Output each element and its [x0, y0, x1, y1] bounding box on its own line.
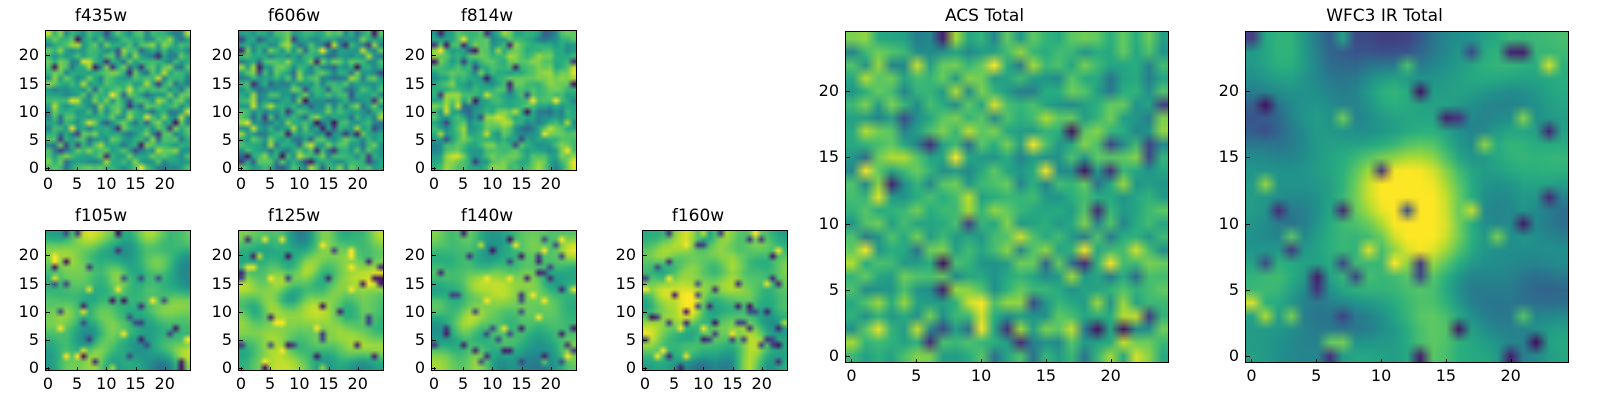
- y-tick-mark: [846, 290, 850, 291]
- y-tick-label: 15: [807, 149, 839, 165]
- y-tick-mark: [432, 284, 436, 285]
- x-tick-label: 20: [541, 176, 561, 192]
- x-tick-mark: [1381, 359, 1382, 363]
- x-tick-mark: [136, 167, 137, 171]
- x-tick-label: 5: [72, 376, 82, 392]
- y-tick-mark: [46, 255, 50, 256]
- y-tick-label: 15: [393, 76, 425, 92]
- panel-f140w: f140w 0510152005101520: [386, 200, 588, 400]
- y-tick-mark: [643, 368, 647, 369]
- x-tick-mark: [270, 167, 271, 171]
- x-tick-mark: [463, 167, 464, 171]
- y-tick-mark: [1246, 290, 1250, 291]
- y-tick-label: 0: [200, 160, 232, 176]
- plot-area-f125w[interactable]: [238, 230, 384, 371]
- y-tick-mark: [46, 284, 50, 285]
- x-tick-mark: [77, 367, 78, 371]
- y-tick-mark: [46, 368, 50, 369]
- y-tick-label: 0: [7, 160, 39, 176]
- x-tick-mark: [1046, 359, 1047, 363]
- x-tick-label: 0: [429, 176, 439, 192]
- heatmap-f105w: [46, 231, 190, 370]
- x-tick-mark: [299, 167, 300, 171]
- x-tick-mark: [674, 367, 675, 371]
- y-tick-mark: [846, 91, 850, 92]
- panel-title-f814w: f814w: [386, 8, 588, 25]
- x-tick-mark: [492, 367, 493, 371]
- x-tick-mark: [1446, 359, 1447, 363]
- x-tick-label: 20: [155, 376, 175, 392]
- x-tick-mark: [522, 367, 523, 371]
- y-tick-label: 10: [200, 304, 232, 320]
- x-tick-mark: [329, 167, 330, 171]
- y-tick-label: 5: [393, 332, 425, 348]
- x-tick-label: 0: [1246, 368, 1256, 384]
- plot-area-f160w[interactable]: [642, 230, 788, 371]
- x-tick-label: 10: [96, 176, 116, 192]
- y-tick-mark: [846, 157, 850, 158]
- x-tick-mark: [77, 167, 78, 171]
- x-tick-mark: [136, 367, 137, 371]
- y-tick-label: 15: [200, 276, 232, 292]
- y-tick-mark: [46, 112, 50, 113]
- y-tick-mark: [239, 140, 243, 141]
- x-tick-mark: [733, 367, 734, 371]
- y-tick-label: 5: [393, 132, 425, 148]
- x-tick-label: 5: [1311, 368, 1321, 384]
- x-tick-label: 20: [1500, 368, 1520, 384]
- y-tick-label: 0: [807, 348, 839, 364]
- y-tick-mark: [432, 255, 436, 256]
- x-tick-label: 0: [640, 376, 650, 392]
- x-tick-label: 10: [289, 176, 309, 192]
- panel-title-f160w: f160w: [597, 208, 799, 225]
- y-tick-mark: [643, 340, 647, 341]
- panel-f105w: f105w 0510152005101520: [0, 200, 202, 400]
- panel-acs-total: ACS Total 0510152005101520: [800, 0, 1180, 400]
- y-tick-label: 20: [7, 247, 39, 263]
- y-tick-mark: [46, 140, 50, 141]
- x-tick-label: 15: [1436, 368, 1456, 384]
- x-tick-label: 5: [669, 376, 679, 392]
- y-tick-label: 10: [807, 216, 839, 232]
- y-tick-mark: [239, 255, 243, 256]
- plot-area-f606w[interactable]: [238, 30, 384, 171]
- x-tick-mark: [1251, 359, 1252, 363]
- y-tick-mark: [1246, 224, 1250, 225]
- y-tick-label: 10: [200, 104, 232, 120]
- plot-area-acs-total[interactable]: [845, 31, 1169, 363]
- y-tick-mark: [643, 312, 647, 313]
- panel-title-f606w: f606w: [193, 8, 395, 25]
- x-tick-label: 5: [265, 376, 275, 392]
- x-tick-label: 10: [482, 176, 502, 192]
- y-tick-mark: [239, 284, 243, 285]
- x-tick-label: 5: [458, 176, 468, 192]
- y-tick-mark: [239, 112, 243, 113]
- y-tick-mark: [846, 224, 850, 225]
- y-tick-label: 5: [604, 332, 636, 348]
- x-tick-mark: [492, 167, 493, 171]
- y-tick-mark: [432, 340, 436, 341]
- heatmap-wfc3-ir-total: [1246, 32, 1568, 362]
- x-tick-mark: [358, 167, 359, 171]
- x-tick-mark: [270, 367, 271, 371]
- y-tick-label: 20: [200, 47, 232, 63]
- y-tick-label: 10: [7, 104, 39, 120]
- y-tick-mark: [432, 168, 436, 169]
- x-tick-label: 0: [236, 176, 246, 192]
- y-tick-label: 0: [1207, 348, 1239, 364]
- panel-title-f105w: f105w: [0, 208, 202, 225]
- x-tick-mark: [165, 167, 166, 171]
- y-tick-label: 15: [604, 276, 636, 292]
- y-tick-mark: [1246, 91, 1250, 92]
- y-tick-label: 20: [807, 83, 839, 99]
- y-tick-mark: [239, 340, 243, 341]
- y-tick-mark: [643, 255, 647, 256]
- y-tick-mark: [432, 140, 436, 141]
- x-tick-label: 10: [96, 376, 116, 392]
- y-tick-label: 15: [1207, 149, 1239, 165]
- y-tick-label: 20: [604, 247, 636, 263]
- y-tick-mark: [46, 340, 50, 341]
- heatmap-f606w: [239, 31, 383, 170]
- heatmap-f814w: [432, 31, 576, 170]
- x-tick-label: 10: [289, 376, 309, 392]
- y-tick-mark: [432, 112, 436, 113]
- x-tick-label: 20: [348, 376, 368, 392]
- x-tick-mark: [916, 359, 917, 363]
- x-tick-label: 10: [971, 368, 991, 384]
- y-tick-label: 15: [393, 276, 425, 292]
- x-tick-label: 15: [1036, 368, 1056, 384]
- y-tick-mark: [46, 168, 50, 169]
- y-tick-label: 10: [393, 104, 425, 120]
- panel-title-f435w: f435w: [0, 8, 202, 25]
- x-tick-label: 5: [458, 376, 468, 392]
- x-tick-mark: [358, 367, 359, 371]
- y-tick-label: 20: [1207, 83, 1239, 99]
- y-tick-label: 0: [393, 360, 425, 376]
- panel-wfc3-ir-total: WFC3 IR Total 0510152005101520: [1200, 0, 1600, 400]
- x-tick-label: 20: [348, 176, 368, 192]
- x-tick-mark: [1316, 359, 1317, 363]
- x-tick-mark: [981, 359, 982, 363]
- y-tick-mark: [239, 55, 243, 56]
- panel-title-f140w: f140w: [386, 208, 588, 225]
- y-tick-mark: [239, 368, 243, 369]
- x-tick-mark: [299, 367, 300, 371]
- y-tick-mark: [643, 284, 647, 285]
- y-tick-label: 5: [200, 132, 232, 148]
- y-tick-label: 20: [393, 247, 425, 263]
- x-tick-mark: [1111, 359, 1112, 363]
- y-tick-label: 15: [7, 76, 39, 92]
- y-tick-mark: [432, 84, 436, 85]
- y-tick-label: 10: [7, 304, 39, 320]
- y-tick-label: 10: [1207, 216, 1239, 232]
- y-tick-label: 5: [200, 332, 232, 348]
- y-tick-mark: [239, 168, 243, 169]
- x-tick-label: 10: [1371, 368, 1391, 384]
- x-tick-label: 0: [236, 376, 246, 392]
- heatmap-f435w: [46, 31, 190, 170]
- y-tick-mark: [46, 312, 50, 313]
- y-tick-label: 20: [393, 47, 425, 63]
- heatmap-acs-total: [846, 32, 1168, 362]
- y-tick-label: 5: [7, 332, 39, 348]
- y-tick-mark: [1246, 157, 1250, 158]
- y-tick-mark: [432, 368, 436, 369]
- x-tick-mark: [1511, 359, 1512, 363]
- y-tick-label: 5: [7, 132, 39, 148]
- panel-f606w: f606w 0510152005101520: [193, 0, 395, 200]
- x-tick-label: 15: [125, 176, 145, 192]
- x-tick-label: 5: [265, 176, 275, 192]
- x-tick-label: 15: [511, 176, 531, 192]
- x-tick-label: 15: [722, 376, 742, 392]
- x-tick-mark: [703, 367, 704, 371]
- y-tick-mark: [46, 84, 50, 85]
- x-tick-label: 5: [72, 176, 82, 192]
- plot-area-f105w[interactable]: [45, 230, 191, 371]
- y-tick-mark: [432, 55, 436, 56]
- x-tick-mark: [551, 367, 552, 371]
- panel-f435w: f435w 0510152005101520: [0, 0, 202, 200]
- plot-area-f435w[interactable]: [45, 30, 191, 171]
- y-tick-label: 15: [7, 276, 39, 292]
- panel-f814w: f814w 0510152005101520: [386, 0, 588, 200]
- y-tick-mark: [239, 84, 243, 85]
- x-tick-label: 10: [482, 376, 502, 392]
- x-tick-mark: [329, 367, 330, 371]
- plot-area-f140w[interactable]: [431, 230, 577, 371]
- y-tick-label: 0: [7, 360, 39, 376]
- figure-canvas: f435w 0510152005101520 f606w 05101520051…: [0, 0, 1600, 400]
- x-tick-label: 10: [693, 376, 713, 392]
- heatmap-f160w: [643, 231, 787, 370]
- y-tick-mark: [239, 312, 243, 313]
- panel-title-acs-total: ACS Total: [800, 8, 1169, 25]
- x-tick-mark: [551, 167, 552, 171]
- x-tick-mark: [463, 367, 464, 371]
- heatmap-f140w: [432, 231, 576, 370]
- y-tick-mark: [46, 55, 50, 56]
- x-tick-label: 20: [541, 376, 561, 392]
- x-tick-label: 15: [511, 376, 531, 392]
- x-tick-label: 15: [125, 376, 145, 392]
- heatmap-f125w: [239, 231, 383, 370]
- y-tick-label: 20: [200, 247, 232, 263]
- panel-f160w: f160w 0510152005101520: [597, 200, 799, 400]
- y-tick-label: 20: [7, 47, 39, 63]
- x-tick-label: 20: [1100, 368, 1120, 384]
- x-tick-mark: [522, 167, 523, 171]
- x-tick-mark: [851, 359, 852, 363]
- y-tick-label: 5: [1207, 282, 1239, 298]
- y-tick-label: 0: [200, 360, 232, 376]
- y-tick-label: 10: [604, 304, 636, 320]
- panel-title-wfc3-ir-total: WFC3 IR Total: [1200, 8, 1569, 25]
- x-tick-mark: [762, 367, 763, 371]
- x-tick-mark: [165, 367, 166, 371]
- x-tick-mark: [106, 167, 107, 171]
- x-tick-label: 0: [846, 368, 856, 384]
- panel-f125w: f125w 0510152005101520: [193, 200, 395, 400]
- x-tick-label: 5: [911, 368, 921, 384]
- x-tick-label: 0: [43, 376, 53, 392]
- plot-area-f814w[interactable]: [431, 30, 577, 171]
- panel-title-f125w: f125w: [193, 208, 395, 225]
- y-tick-mark: [432, 312, 436, 313]
- plot-area-wfc3-ir-total[interactable]: [1245, 31, 1569, 363]
- y-tick-label: 10: [393, 304, 425, 320]
- x-tick-label: 20: [155, 176, 175, 192]
- x-tick-label: 0: [429, 376, 439, 392]
- x-tick-label: 15: [318, 176, 338, 192]
- y-tick-label: 5: [807, 282, 839, 298]
- x-tick-label: 20: [752, 376, 772, 392]
- y-tick-label: 15: [200, 76, 232, 92]
- y-tick-mark: [846, 356, 850, 357]
- x-tick-mark: [106, 367, 107, 371]
- y-tick-mark: [1246, 356, 1250, 357]
- y-tick-label: 0: [393, 160, 425, 176]
- x-tick-label: 15: [318, 376, 338, 392]
- y-tick-label: 0: [604, 360, 636, 376]
- x-tick-label: 0: [43, 176, 53, 192]
